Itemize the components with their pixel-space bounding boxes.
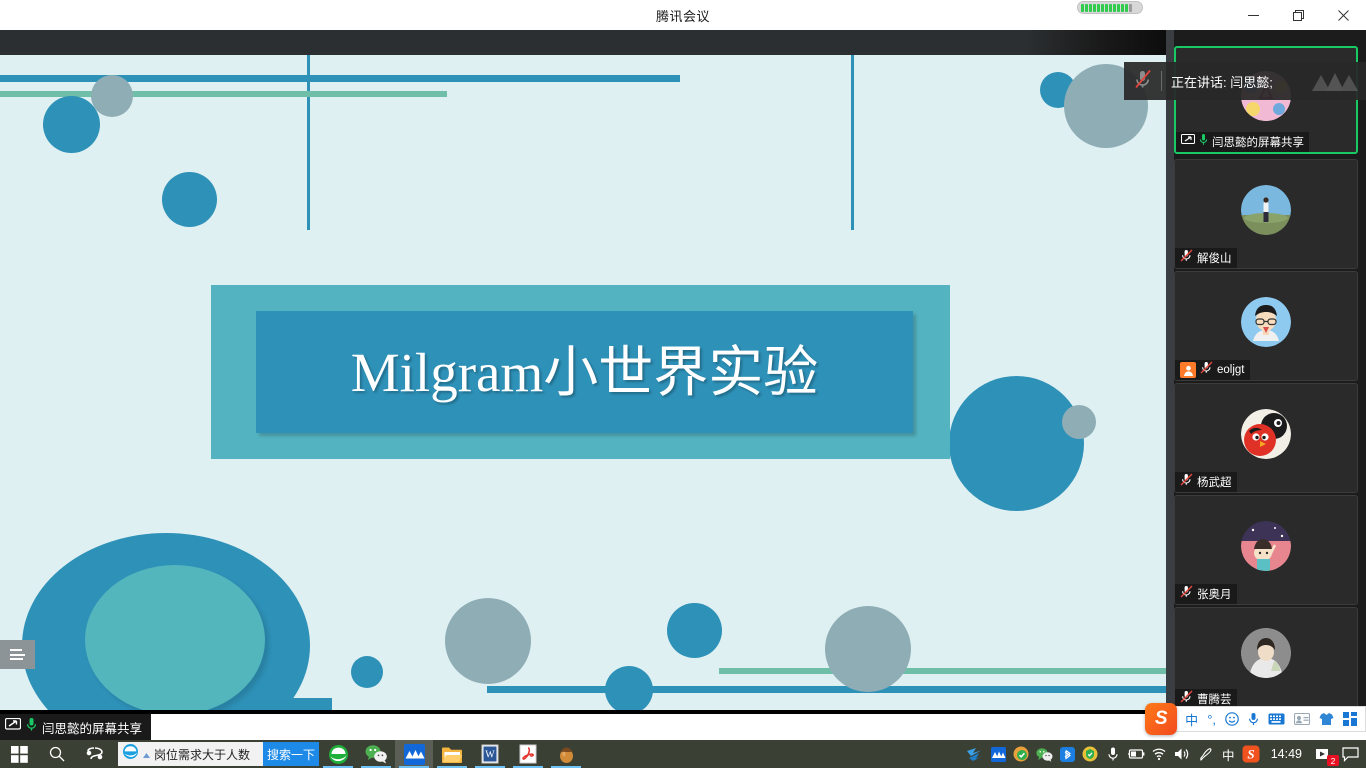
host-badge-icon — [1180, 362, 1196, 378]
slide-title-box: Milgram小世界实验 — [256, 311, 913, 433]
window-controls — [1231, 0, 1366, 30]
decorative-circle — [949, 376, 1084, 511]
360-security-icon[interactable] — [1010, 740, 1033, 768]
tencent-meeting-window: 腾讯会议 — [0, 0, 1366, 768]
wechat-tray-icon[interactable] — [1033, 740, 1056, 768]
decorative-circle — [351, 656, 383, 688]
decorative-circle — [667, 603, 722, 658]
slide-title-text: Milgram小世界实验 — [351, 345, 818, 400]
participant-name: 曹腾芸 — [1197, 691, 1232, 707]
meeting-toolbar-strip — [0, 30, 1366, 55]
decorative-circle — [825, 606, 911, 692]
skin-icon[interactable] — [1319, 712, 1334, 726]
pen-icon[interactable] — [1194, 740, 1217, 768]
mic-muted-icon — [1180, 249, 1193, 267]
internet-explorer-icon — [122, 743, 139, 765]
windows-taskbar: 岗位需求大于人数 搜索一下 — [0, 740, 1366, 768]
speaking-banner: 正在讲话: 闫思懿; — [1124, 62, 1366, 100]
wifi-icon[interactable] — [1148, 740, 1171, 768]
battery-icon[interactable] — [1125, 740, 1148, 768]
punctuation-icon[interactable]: °, — [1207, 712, 1216, 727]
shield-icon[interactable] — [1079, 740, 1102, 768]
participant-tile[interactable]: 杨武超 — [1174, 383, 1358, 493]
participant-tile[interactable]: 曹腾芸 — [1174, 607, 1358, 710]
notification-badge: 2 — [1327, 755, 1339, 766]
taskbar-search-box[interactable]: 岗位需求大于人数 — [118, 742, 263, 766]
action-center-icon[interactable] — [1336, 740, 1364, 768]
participant-name: 张奥月 — [1197, 586, 1232, 602]
taskbar-clock[interactable]: 14:49 — [1263, 747, 1310, 761]
participant-name: eoljgt — [1217, 364, 1245, 376]
participant-namebar: eoljgt — [1175, 360, 1250, 380]
speaking-text: 正在讲话: 闫思懿; — [1171, 72, 1273, 91]
search-query-text[interactable]: 岗位需求大于人数 — [154, 746, 250, 763]
participant-name: 解俊山 — [1197, 250, 1232, 266]
sogou-ime-toolbar[interactable]: S 中 °, — [1150, 706, 1366, 732]
search-go-button[interactable]: 搜索一下 — [263, 742, 319, 766]
decorative-circle — [1062, 405, 1096, 439]
avatar — [1241, 185, 1291, 235]
participant-namebar: 闫思懿的屏幕共享 — [1176, 132, 1309, 152]
taskbar-app-tencent-meeting[interactable] — [395, 740, 433, 768]
decorative-circle — [91, 75, 133, 117]
maximize-button[interactable] — [1276, 0, 1321, 30]
shared-screen-slide[interactable]: Milgram小世界实验 — [0, 55, 1166, 710]
window-titlebar: 腾讯会议 — [0, 0, 1366, 30]
banner-divider — [1161, 71, 1162, 91]
voice-input-icon[interactable] — [1248, 712, 1259, 726]
slide-q-graphic — [22, 533, 310, 710]
panel-scrollbar[interactable] — [1166, 30, 1174, 710]
participant-namebar: 杨武超 — [1175, 472, 1237, 492]
taskbar-app-acrobat-reader[interactable] — [509, 740, 547, 768]
mic-muted-icon — [1180, 473, 1193, 491]
task-view-icon[interactable] — [76, 740, 114, 768]
slide-hline-blue-bottom — [487, 686, 1166, 693]
account-icon[interactable] — [1294, 713, 1310, 725]
mic-muted-icon — [1134, 69, 1152, 94]
mic-on-icon — [26, 717, 37, 737]
close-button[interactable] — [1321, 0, 1366, 30]
mic-muted-icon — [1200, 361, 1213, 379]
svg-text:S: S — [1248, 747, 1255, 762]
decorative-circle — [43, 96, 100, 153]
system-tray: 中 S 14:49 2 — [964, 740, 1366, 768]
share-status-chip[interactable]: 闫思懿的屏幕共享 — [0, 714, 151, 740]
decorative-circle — [445, 598, 531, 684]
bluetooth-icon[interactable] — [1056, 740, 1079, 768]
search-icon[interactable] — [38, 740, 76, 768]
tencent-meeting-tray-icon[interactable] — [987, 740, 1010, 768]
ime-chinese-icon[interactable]: 中 — [1217, 740, 1240, 768]
hamburger-menu-icon — [10, 649, 25, 660]
windows-start-icon[interactable] — [0, 740, 38, 768]
slide-vertical-line-right — [851, 55, 854, 230]
window-title: 腾讯会议 — [656, 6, 710, 25]
share-status-label: 闫思懿的屏幕共享 — [42, 718, 142, 737]
avatar — [1241, 409, 1291, 459]
participant-namebar: 解俊山 — [1175, 248, 1237, 268]
avatar — [1241, 628, 1291, 678]
slide-title-frame: Milgram小世界实验 — [211, 285, 950, 459]
notification-icon[interactable]: 2 — [1310, 740, 1336, 768]
sogou-cloud-icon[interactable] — [964, 740, 987, 768]
participant-tile[interactable]: 解俊山 — [1174, 159, 1358, 269]
tencent-meeting-logo — [1312, 71, 1358, 98]
participant-name: 杨武超 — [1197, 474, 1232, 490]
taskbar-app-nutstore[interactable] — [547, 740, 585, 768]
chinese-mode-icon[interactable]: 中 — [1185, 710, 1198, 729]
minimize-button[interactable] — [1231, 0, 1276, 30]
dropdown-caret-icon — [143, 745, 150, 763]
screen-share-icon — [5, 718, 21, 737]
mic-muted-icon — [1180, 585, 1193, 603]
apps-grid-icon[interactable] — [1343, 712, 1357, 726]
volume-icon[interactable] — [1171, 740, 1194, 768]
mic-on-icon — [1199, 133, 1208, 151]
slide-hline-green-bottom — [719, 668, 1166, 674]
participant-tile[interactable]: eoljgt — [1174, 271, 1358, 381]
taskbar-app-word[interactable]: W — [471, 740, 509, 768]
sogou-ime-icon[interactable]: S — [1145, 703, 1177, 735]
taskbar-app-edge[interactable] — [319, 740, 357, 768]
avatar — [1241, 521, 1291, 571]
taskbar-app-file-explorer[interactable] — [433, 740, 471, 768]
participant-tile[interactable]: 张奥月 — [1174, 495, 1358, 605]
participant-namebar: 张奥月 — [1175, 584, 1237, 604]
avatar — [1241, 297, 1291, 347]
taskbar-app-wechat[interactable] — [357, 740, 395, 768]
participant-name: 闫思懿的屏幕共享 — [1212, 134, 1304, 150]
sogou-ime-tray-icon[interactable]: S — [1240, 740, 1263, 768]
microphone-icon[interactable] — [1102, 740, 1125, 768]
emoji-icon[interactable] — [1225, 712, 1239, 726]
soft-keyboard-icon[interactable] — [1268, 713, 1285, 725]
slide-menu-tab[interactable] — [0, 640, 35, 669]
decorative-circle — [162, 172, 217, 227]
decorative-circle — [605, 666, 653, 710]
screen-share-icon — [1181, 133, 1195, 151]
svg-text:W: W — [485, 750, 495, 761]
audio-level-meter — [1077, 1, 1143, 14]
